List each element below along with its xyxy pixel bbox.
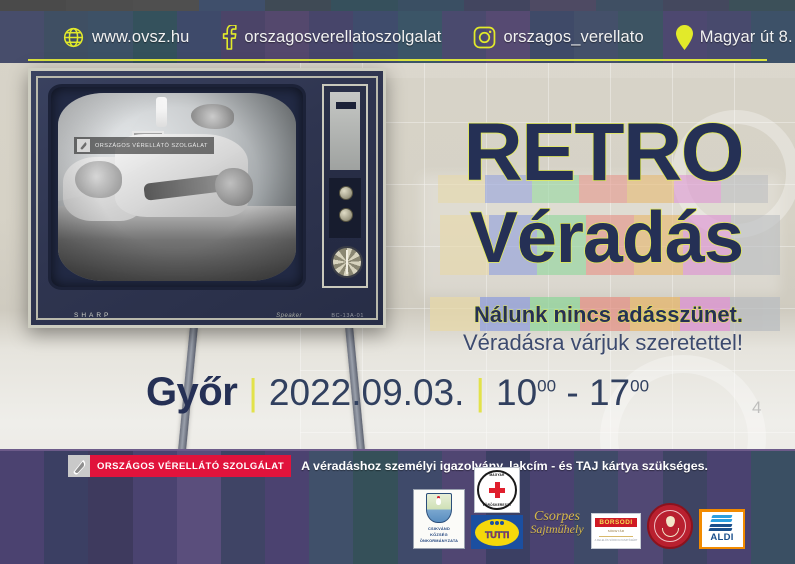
header-item-instagram[interactable]: orszagos_verellato — [473, 26, 643, 49]
stripe — [663, 0, 729, 11]
colorbar — [489, 215, 538, 275]
sponsor-aldi: ALDI — [699, 509, 745, 549]
event-time: 1000 - 1700 — [496, 372, 649, 414]
tv-model-label: BC-13A-01 — [331, 313, 364, 319]
colorbar — [430, 297, 480, 331]
sponsor-csorpes: Csorpes Sajtműhely — [529, 497, 585, 549]
colorbar — [580, 297, 630, 331]
borsodi-rule — [599, 536, 633, 537]
time-start-sup: 00 — [537, 377, 556, 396]
stripe — [133, 0, 199, 11]
vercsepp-arc-icon — [662, 528, 679, 537]
csikvand-line3: ÖNKORMÁNYZATA — [420, 538, 458, 544]
globe-icon — [62, 26, 85, 49]
tv-brand-label: SHARP — [74, 312, 111, 319]
colorbar — [674, 175, 721, 203]
tv-channel-tag — [336, 102, 356, 109]
colorbar — [634, 215, 683, 275]
blood-donation-scene — [58, 93, 296, 281]
borsodi-sub2: A FELELŐS SÖRFOGYASZTÁSÉRT — [595, 539, 638, 542]
website-label: www.ovsz.hu — [92, 28, 189, 47]
address-label: Magyar út 8. — [700, 28, 793, 47]
stripe — [0, 0, 66, 11]
tutti-oval-icon: TUTTI — [474, 518, 520, 547]
stripe — [199, 0, 265, 11]
csorpes-line1: Csorpes — [534, 510, 580, 523]
tv-speaker-grille — [330, 92, 360, 170]
stripe — [729, 0, 795, 11]
event-separator-1: | — [248, 374, 258, 411]
borsodi-word: BORSODI — [595, 518, 636, 527]
instagram-label: orszagos_verellato — [503, 28, 643, 47]
poster-root: 4 www.ovsz.hu — [0, 0, 795, 564]
colorbars-veradas — [440, 215, 780, 275]
event-city: Győr — [146, 370, 237, 415]
borsodi-sub: SÖRGYÁR — [608, 529, 624, 533]
colorbar — [438, 175, 485, 203]
tv-knob-volume[interactable] — [339, 186, 353, 200]
stripe — [596, 0, 662, 11]
colorbar — [683, 215, 732, 275]
sponsor-csikvand: CSIKVÁND KÖZSÉG ÖNKORMÁNYZATA — [413, 489, 465, 549]
colorbar — [537, 215, 586, 275]
colorbar — [630, 297, 680, 331]
colorbar — [579, 175, 626, 203]
tv-control-panel — [322, 84, 368, 288]
sponsor-vercsepp — [647, 503, 693, 549]
event-separator-2: | — [475, 374, 485, 411]
tv-screen: ORSZÁGOS VÉRELLÁTÓ SZOLGÁLAT — [58, 93, 296, 281]
colorbar — [721, 175, 768, 203]
time-dash: - — [566, 372, 578, 413]
ovsz-name-badge: ORSZÁGOS VÉRELLÁTÓ SZOLGÁLAT — [90, 455, 291, 477]
colorbar — [586, 215, 635, 275]
csikvand-crest-icon — [426, 493, 452, 523]
vercsepp-inner-icon — [654, 510, 686, 542]
sponsor-redcross: MAGYAR VÖRÖSKERESZT — [474, 467, 520, 513]
colorbars-retro — [438, 175, 768, 203]
facebook-icon — [221, 25, 237, 50]
tv-knob-tuning[interactable] — [339, 208, 353, 222]
sponsor-logos: CSIKVÁND KÖZSÉG ÖNKORMÁNYZATA MAGYAR VÖR… — [413, 479, 745, 549]
redcross-bottom-text: VÖRÖSKERESZT — [479, 503, 515, 507]
time-end-sup: 00 — [630, 377, 649, 396]
colorbar — [530, 297, 580, 331]
sponsor-borsodi: BORSODI SÖRGYÁR A FELELŐS SÖRFOGYASZTÁSÉ… — [591, 513, 641, 549]
ovsz-logo: ORSZÁGOS VÉRELLÁTÓ SZOLGÁLAT — [68, 455, 291, 477]
time-end: 17 — [589, 372, 630, 413]
csorpes-line2: Sajtműhely — [530, 524, 583, 535]
ovsz-logo-icon — [68, 455, 90, 477]
colorbars-tagline — [430, 297, 780, 331]
stripe — [265, 0, 331, 11]
top-strip — [0, 0, 795, 11]
ovsz-mark-icon — [77, 139, 90, 152]
redcross-ring-icon: MAGYAR VÖRÖSKERESZT — [477, 470, 517, 510]
stripe — [66, 0, 132, 11]
redcross-cross-icon — [489, 482, 505, 498]
tv-channel-dial[interactable] — [331, 246, 363, 278]
colorbar — [480, 297, 530, 331]
instagram-icon — [473, 26, 496, 49]
event-date: 2022.09.03. — [269, 372, 464, 414]
stripe — [398, 0, 464, 11]
time-start: 10 — [496, 372, 537, 413]
colorbar — [731, 215, 780, 275]
event-line: Győr | 2022.09.03. | 1000 - 1700 — [0, 370, 795, 415]
stripe — [464, 0, 530, 11]
colorbar — [680, 297, 730, 331]
tutti-word: TUTTI — [485, 530, 509, 540]
screen-logo-text: ORSZÁGOS VÉRELLÁTÓ SZOLGÁLAT — [95, 143, 208, 149]
tv-knob-panel — [329, 178, 361, 238]
footer-row: ORSZÁGOS VÉRELLÁTÓ SZOLGÁLAT A véradásho… — [0, 449, 795, 477]
tv-brand-script: Speaker — [276, 313, 302, 319]
colorbar — [730, 297, 780, 331]
header-bar: www.ovsz.hu orszagosverellatoszolgalat — [0, 11, 795, 63]
tv-bezel: ORSZÁGOS VÉRELLÁTÓ SZOLGÁLAT — [48, 84, 306, 290]
header-underline — [28, 59, 767, 61]
colorbar — [440, 215, 489, 275]
header-item-address[interactable]: Magyar út 8. — [676, 25, 793, 50]
header-item-website[interactable]: www.ovsz.hu — [62, 26, 189, 49]
tutti-bubbles-icon — [490, 521, 504, 525]
aldi-word: ALDI — [710, 532, 733, 543]
stripe — [331, 0, 397, 11]
sponsor-tutti: TUTTI — [471, 515, 523, 549]
header-item-facebook[interactable]: orszagosverellatoszolgalat — [221, 25, 441, 50]
map-pin-icon — [676, 25, 693, 50]
screen-logo-overlay: ORSZÁGOS VÉRELLÁTÓ SZOLGÁLAT — [74, 137, 214, 154]
retro-tv: ORSZÁGOS VÉRELLÁTÓ SZOLGÁLAT SHARP Speak… — [28, 68, 386, 328]
footer-bar: ORSZÁGOS VÉRELLÁTÓ SZOLGÁLAT A véradásho… — [0, 449, 795, 564]
aldi-bars-icon — [709, 515, 735, 531]
facebook-label: orszagosverellatoszolgalat — [244, 28, 441, 47]
colorbar — [532, 175, 579, 203]
colorbar — [627, 175, 674, 203]
stripe — [530, 0, 596, 11]
redcross-top-text: MAGYAR — [479, 473, 515, 477]
blood-drop-icon — [666, 516, 675, 527]
colorbar — [485, 175, 532, 203]
